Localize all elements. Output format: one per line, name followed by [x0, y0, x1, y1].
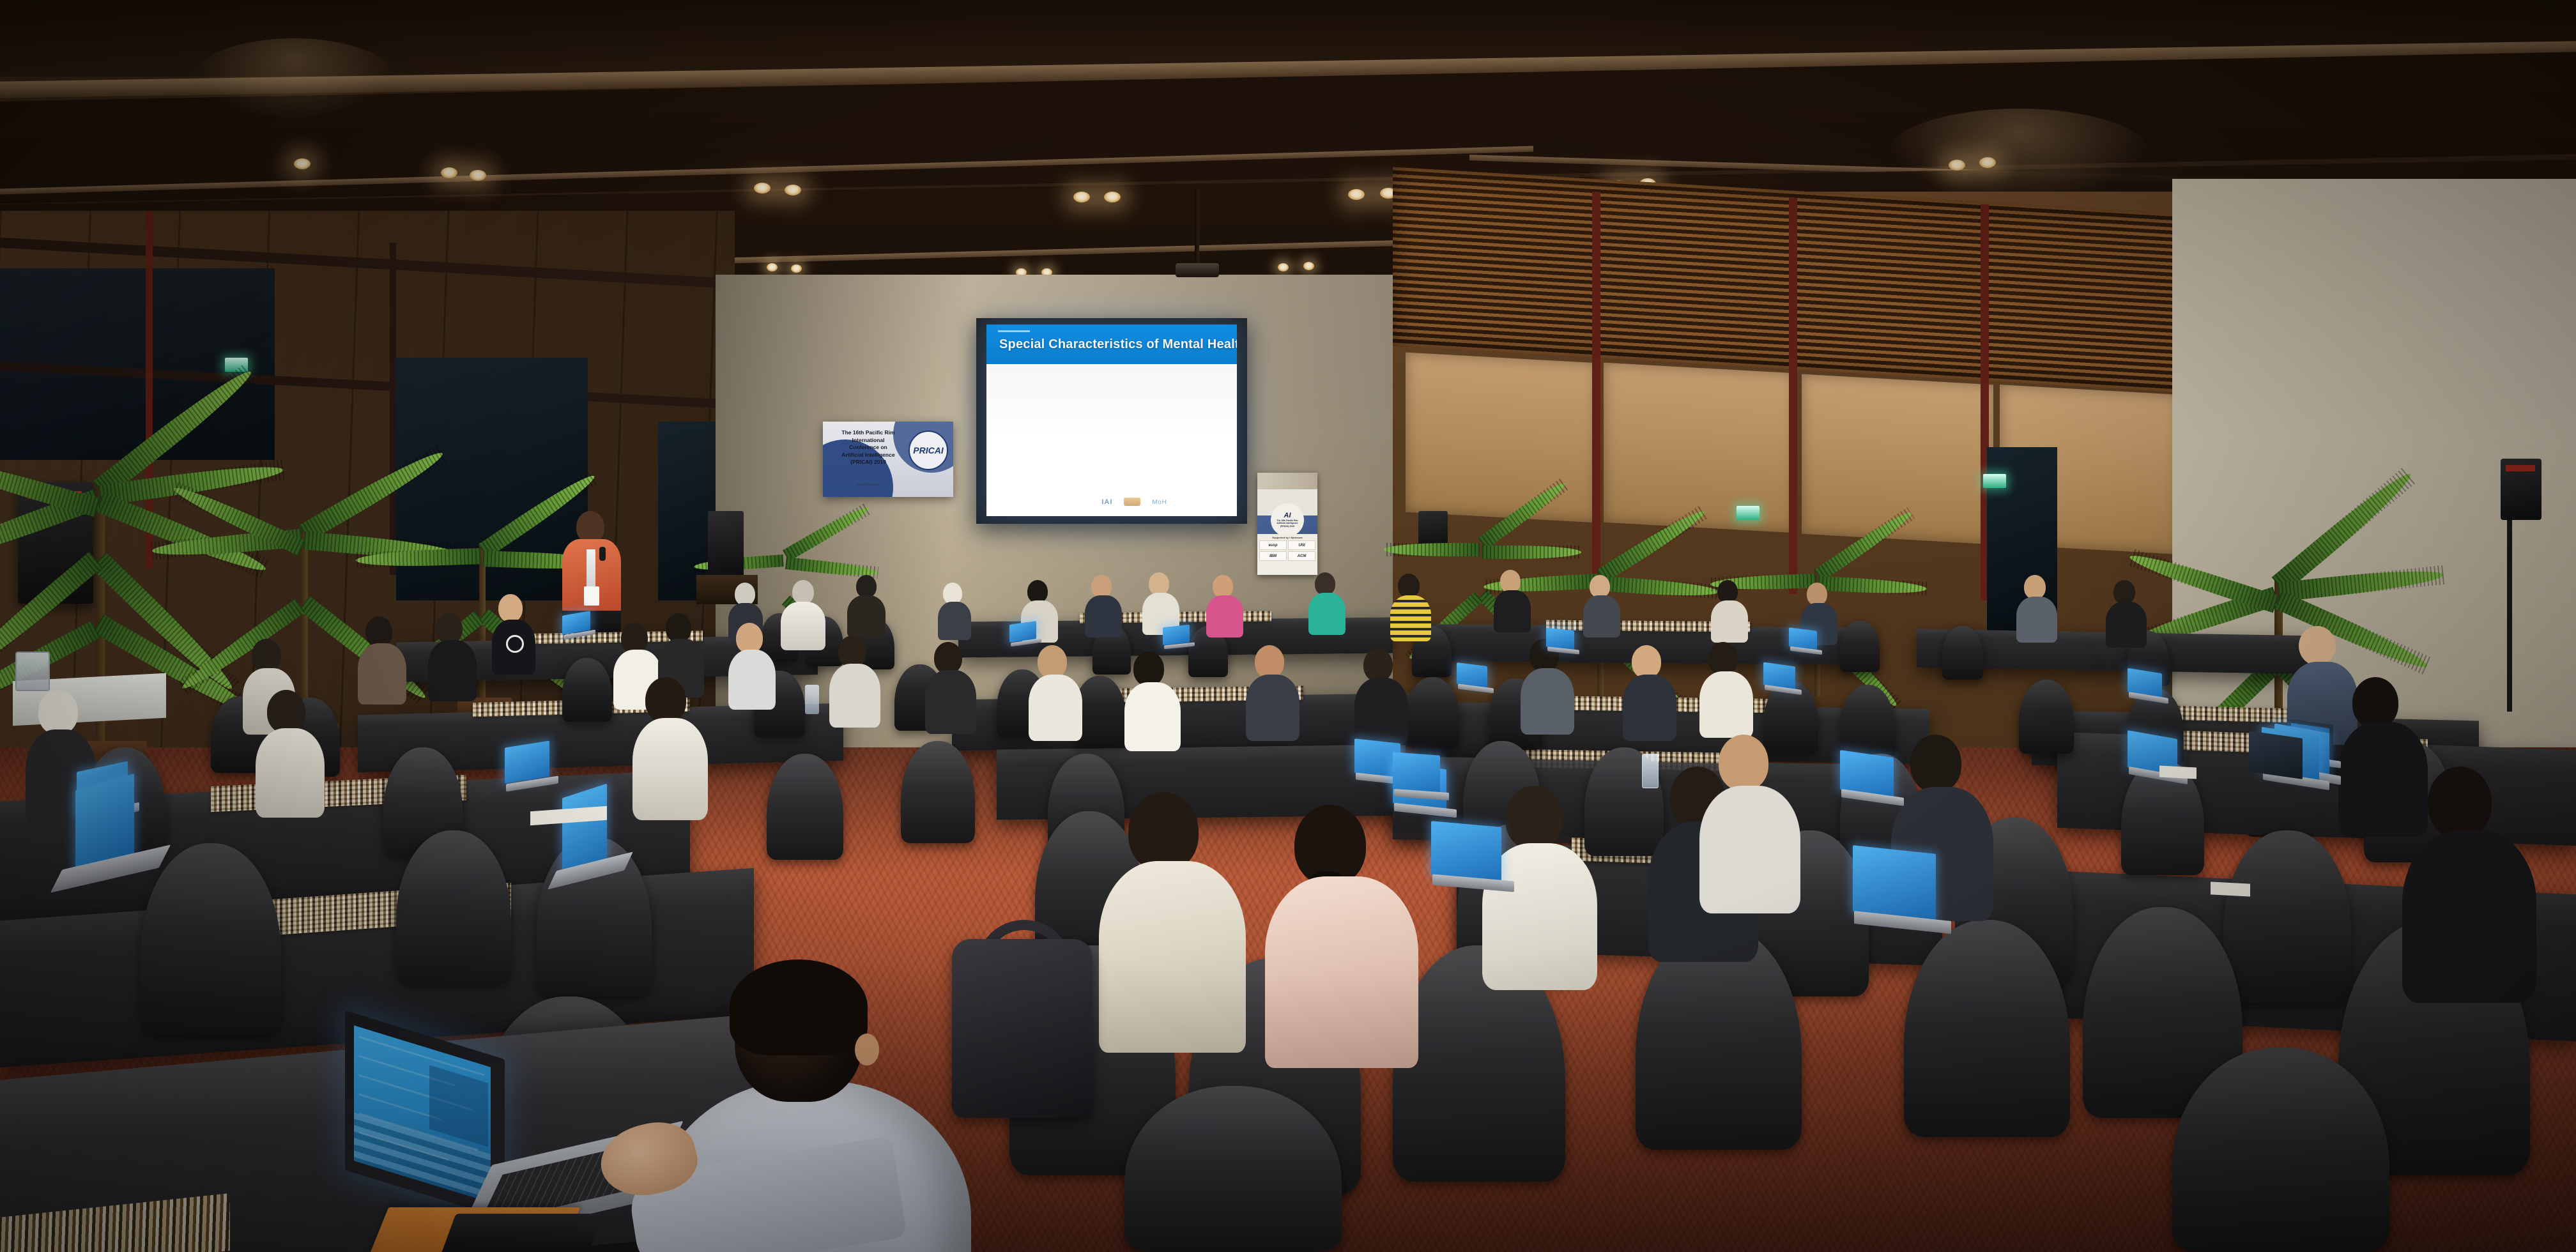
presenter-head	[576, 511, 604, 543]
torso	[847, 595, 885, 637]
head	[2024, 575, 2046, 599]
foreground-laptop[interactable]	[345, 1035, 652, 1226]
torso	[1085, 595, 1122, 637]
slide-accent-line	[998, 330, 1030, 332]
head	[1632, 645, 1661, 678]
banner-line-5: (PRICAI) 2019	[831, 459, 906, 466]
downlight	[1104, 192, 1121, 202]
poster-caption-3: (PRICAI) 2019	[1278, 525, 1296, 528]
wall-mullion-vertical	[1789, 198, 1797, 594]
chair	[1942, 626, 1983, 680]
laptop-screen	[505, 740, 549, 783]
torso	[1029, 675, 1082, 741]
torso-pink-jacket	[1265, 876, 1418, 1068]
tshirt-logo-icon	[506, 635, 524, 653]
torso	[2016, 597, 2057, 643]
banner-line-3: Conference on	[831, 444, 906, 452]
head	[645, 677, 686, 723]
head	[934, 642, 962, 674]
paper-sheet	[2159, 765, 2196, 779]
head	[1213, 575, 1233, 598]
poster-sponsor-panel: Supported by / Sponsors eusp UNI IBM ACM	[1257, 534, 1317, 575]
head	[2352, 677, 2398, 728]
av-speaker-stack	[708, 511, 744, 577]
torso	[2338, 722, 2428, 837]
exit-sign	[1736, 506, 1759, 520]
institution-logo-left: IAI	[1101, 498, 1112, 506]
foreground-attendee-hair	[730, 959, 868, 1055]
torso	[1699, 786, 1800, 913]
torso	[1354, 678, 1408, 744]
head	[365, 616, 392, 647]
backpack	[952, 939, 1092, 1118]
head	[2428, 767, 2492, 838]
exit-sign	[1983, 474, 2006, 488]
water-bottle	[1642, 754, 1659, 788]
banner-line-2: International	[831, 437, 906, 445]
presenter-lanyard	[586, 549, 595, 589]
torso-cream-jacket	[1099, 861, 1246, 1053]
loudspeaker-right	[2501, 459, 2541, 520]
torso	[1390, 595, 1431, 641]
loudspeaker-label-right	[2506, 465, 2535, 471]
palm-frond	[1482, 546, 1581, 559]
head	[1910, 735, 1961, 792]
downlight	[754, 183, 770, 194]
torso	[1521, 668, 1574, 735]
downlight	[791, 264, 802, 273]
sponsor-logo: eusp	[1259, 540, 1287, 550]
torso	[829, 664, 880, 728]
pricai-logo-text: PRICAI	[913, 445, 943, 455]
banner-line-1: The 16th Pacific Rim	[831, 429, 906, 437]
head	[2113, 580, 2135, 604]
torso	[428, 640, 477, 701]
head	[2299, 626, 2336, 666]
head	[1255, 645, 1284, 678]
banner-url: www.pricai.org	[831, 483, 906, 487]
chair	[1406, 677, 1459, 747]
projector	[1176, 263, 1219, 277]
poster-top-strip	[1257, 473, 1317, 489]
downlight	[441, 167, 457, 178]
head	[1807, 583, 1827, 606]
laptop-screen	[1431, 821, 1501, 881]
banner-text: The 16th Pacific Rim International Confe…	[831, 429, 906, 466]
sponsor-logo: ACM	[1288, 551, 1315, 561]
institution-logo-right: MoH	[1152, 499, 1167, 506]
projection-screen: Special Characteristics of Mental Health…	[986, 324, 1237, 516]
head	[736, 623, 763, 653]
torso	[256, 728, 325, 818]
sponsor-logo: UNI	[1288, 540, 1315, 550]
palm-frond	[1384, 543, 1480, 556]
downlight	[767, 263, 778, 271]
downlight	[785, 185, 801, 195]
head	[1708, 642, 1738, 675]
downlight	[1348, 189, 1365, 200]
head	[1363, 648, 1393, 682]
chair	[1840, 621, 1880, 672]
head	[252, 639, 281, 672]
torso	[1206, 595, 1243, 637]
pricai-poster-logo-icon: AI The 16th Pacific Rim Artificial Intel…	[1271, 503, 1304, 537]
torso	[781, 602, 825, 650]
slide-footer-logos: IAI MoH	[1101, 498, 1167, 506]
head	[1315, 572, 1335, 595]
torso	[1623, 675, 1676, 741]
speaker-stand-pole	[2507, 520, 2512, 712]
torso	[1308, 593, 1345, 635]
torso	[2402, 830, 2536, 1003]
head	[792, 580, 814, 604]
torso	[1583, 595, 1620, 637]
torso	[728, 650, 776, 710]
head	[1038, 645, 1067, 678]
institution-logo-center	[1124, 498, 1140, 506]
wall-mullion-vertical	[1592, 192, 1600, 588]
conference-hall-scene: Special Characteristics of Mental Health…	[0, 0, 2576, 1252]
screen-panel	[429, 1065, 488, 1147]
banner-line-4: Artificial Intelligence	[831, 452, 906, 459]
downlight	[1073, 192, 1090, 202]
head	[856, 575, 877, 598]
head	[267, 690, 305, 733]
head	[1091, 575, 1112, 598]
torso-black-tshirt	[492, 620, 535, 675]
slide-header-band: Special Characteristics of Mental Health…	[986, 324, 1237, 364]
head	[1398, 574, 1420, 598]
head	[38, 690, 78, 735]
downlight	[294, 158, 310, 169]
light-wash	[1885, 109, 2153, 204]
laptop-screen	[1163, 625, 1190, 645]
head	[1128, 792, 1199, 871]
poster-logo-text: AI	[1284, 512, 1291, 519]
paper-sheet	[2211, 882, 2250, 896]
laptop-screen	[2249, 731, 2303, 779]
head	[621, 623, 648, 653]
torso	[1699, 671, 1753, 738]
slide-body: IAI MoH	[986, 364, 1237, 516]
chair	[562, 658, 612, 722]
torso	[1246, 675, 1299, 741]
torso	[1711, 600, 1748, 643]
head	[1500, 570, 1521, 593]
window-mullion-vertical	[390, 243, 396, 575]
head	[1027, 580, 1048, 603]
head	[1505, 786, 1563, 850]
light-wash	[192, 38, 396, 121]
microphone-icon	[599, 547, 606, 561]
torso	[938, 602, 971, 640]
head	[1590, 575, 1610, 598]
torso	[2106, 602, 2147, 648]
downlight	[1303, 262, 1314, 270]
head	[436, 613, 463, 644]
head	[498, 594, 523, 622]
torso	[1494, 590, 1531, 632]
wall-panel	[1406, 353, 1597, 523]
head	[1149, 572, 1169, 595]
presenter-badge	[584, 586, 599, 606]
sponsors-title: Supported by / Sponsors	[1259, 536, 1315, 539]
downlight	[1278, 263, 1289, 271]
head	[838, 636, 866, 668]
head	[943, 583, 962, 604]
sponsor-logo: IBM	[1259, 551, 1287, 561]
conference-banner: PRICAI The 16th Pacific Rim Internationa…	[823, 422, 953, 497]
torso	[925, 670, 976, 734]
head	[1717, 580, 1738, 603]
foreground-attendee-ear	[855, 1034, 879, 1065]
laptop-screen	[1853, 845, 1936, 920]
pricai-logo-icon: PRICAI	[908, 431, 948, 470]
torso	[1124, 682, 1181, 751]
slide-title: Special Characteristics of Mental Health…	[999, 337, 1229, 352]
water-pitcher	[15, 652, 50, 691]
head	[1719, 735, 1768, 791]
head	[735, 583, 755, 606]
smartphone[interactable]	[439, 1214, 603, 1252]
projector-pole	[1195, 189, 1199, 266]
torso	[358, 643, 406, 705]
head	[1133, 652, 1164, 686]
downlight	[470, 170, 486, 181]
torso	[632, 718, 708, 820]
laptop-screen	[1393, 752, 1440, 792]
poster-board: AI The 16th Pacific Rim Artificial Intel…	[1257, 473, 1317, 575]
water-bottle	[805, 685, 819, 714]
